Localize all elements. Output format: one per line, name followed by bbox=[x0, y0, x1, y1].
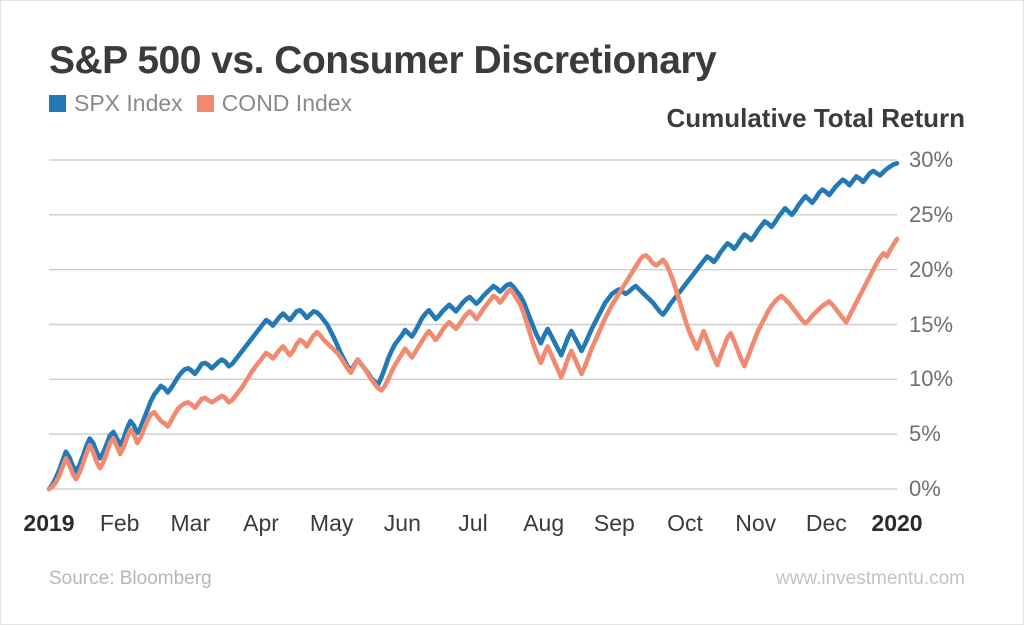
y-tick-label: 25% bbox=[909, 202, 953, 228]
x-tick-label: Oct bbox=[667, 510, 703, 537]
source-note: Source: Bloomberg bbox=[49, 568, 212, 590]
series-line-cond bbox=[49, 239, 897, 489]
y-tick-label: 5% bbox=[909, 421, 941, 447]
x-tick-label: Apr bbox=[243, 510, 279, 537]
x-tick-label: Dec bbox=[806, 510, 847, 537]
x-tick-label: 2020 bbox=[871, 510, 922, 537]
x-tick-label: 2019 bbox=[23, 510, 74, 537]
x-tick-label: Nov bbox=[735, 510, 776, 537]
x-tick-label: May bbox=[310, 510, 353, 537]
y-tick-label: 15% bbox=[909, 312, 953, 338]
chart-card: S&P 500 vs. Consumer Discretionary SPX I… bbox=[0, 0, 1024, 625]
x-tick-label: Mar bbox=[171, 510, 211, 537]
y-tick-label: 0% bbox=[909, 476, 941, 502]
x-tick-label: Aug bbox=[523, 510, 564, 537]
y-tick-label: 30% bbox=[909, 147, 953, 173]
series-line-spx bbox=[49, 163, 897, 489]
y-tick-label: 10% bbox=[909, 366, 953, 392]
y-tick-label: 20% bbox=[909, 257, 953, 283]
x-tick-label: Sep bbox=[594, 510, 635, 537]
x-tick-label: Jun bbox=[384, 510, 421, 537]
x-tick-label: Jul bbox=[458, 510, 487, 537]
x-tick-label: Feb bbox=[100, 510, 140, 537]
site-note: www.investmentu.com bbox=[776, 568, 965, 590]
